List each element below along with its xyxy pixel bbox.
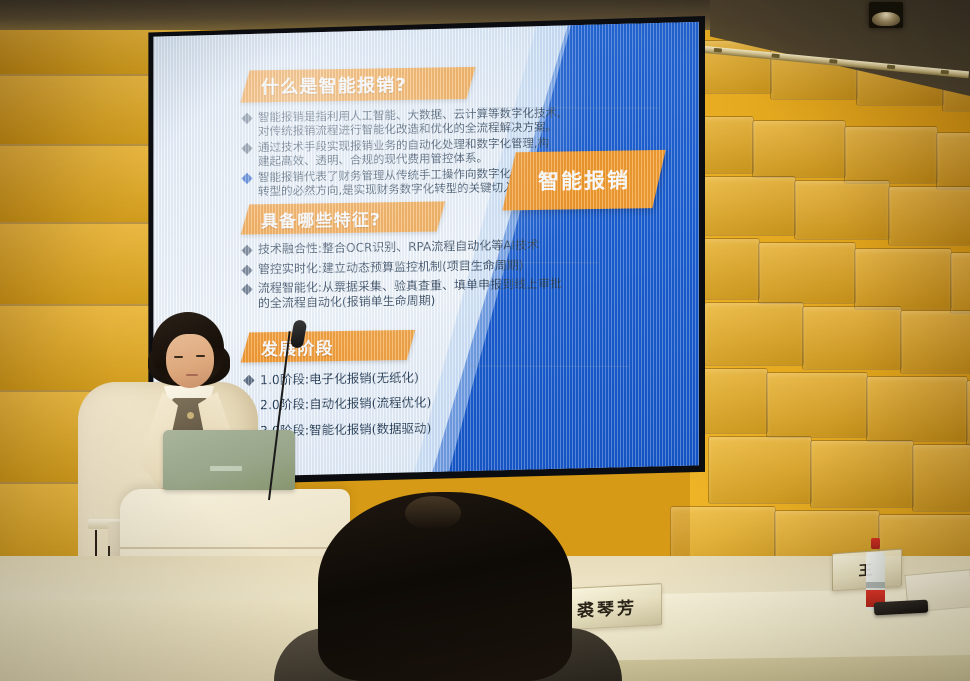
diamond-bullet-icon bbox=[241, 113, 252, 124]
diamond-bullet-icon bbox=[241, 245, 252, 256]
list-item: 智能报销是指利用人工智能、大数据、云计算等数字化技术, 对传统报销流程进行智能化… bbox=[243, 105, 583, 138]
presenter-mouth bbox=[186, 374, 198, 376]
slide-heading-3: 发展阶段 bbox=[241, 330, 416, 363]
list-item: 技术融合性:整合OCR识别、RPA流程自动化等AI技术 bbox=[243, 237, 583, 257]
list-item: 1.0阶段:电子化报销(无纸化) bbox=[245, 367, 585, 388]
list-item: 管控实时化:建立动态预算监控机制(项目生命周期) bbox=[243, 257, 583, 277]
diamond-bullet-icon bbox=[241, 264, 252, 275]
slide-heading-1: 什么是智能报销? bbox=[240, 67, 475, 103]
slide-bullets-3: 1.0阶段:电子化报销(无纸化) 2.0阶段:自动化报销(流程优化) 3.0阶段… bbox=[245, 367, 585, 440]
diamond-bullet-icon bbox=[241, 284, 252, 295]
conference-room-photo: 什么是智能报销? 智能报销是指利用人工智能、大数据、云计算等数字化技术, 对传统… bbox=[0, 0, 970, 681]
list-item: 2.0阶段:自动化报销(流程优化) bbox=[245, 392, 585, 413]
water-bottle-icon bbox=[866, 538, 885, 610]
laptop-logo bbox=[210, 466, 242, 471]
slide-bullets-2: 技术融合性:整合OCR识别、RPA流程自动化等AI技术 管控实时化:建立动态预算… bbox=[243, 237, 583, 313]
slide-callout-badge: 智能报销 bbox=[502, 150, 665, 211]
presenter-button bbox=[187, 412, 194, 419]
list-item: 流程智能化:从票据采集、验真查重、填单申报到线上审批 的全流程自动化(报销单生命… bbox=[243, 276, 583, 311]
diamond-bullet-icon bbox=[241, 173, 252, 184]
presenter-face bbox=[166, 334, 214, 388]
ceiling-spotlight-icon bbox=[869, 2, 903, 28]
audience-hair-part bbox=[405, 496, 461, 530]
right-acoustic-wall bbox=[690, 20, 970, 580]
slide-heading-2: 具备哪些特征? bbox=[241, 201, 446, 234]
diamond-bullet-icon bbox=[241, 143, 252, 154]
list-item: 3.0阶段:智能化报销(数据驱动) bbox=[245, 418, 585, 439]
diamond-bullet-icon bbox=[243, 375, 254, 386]
